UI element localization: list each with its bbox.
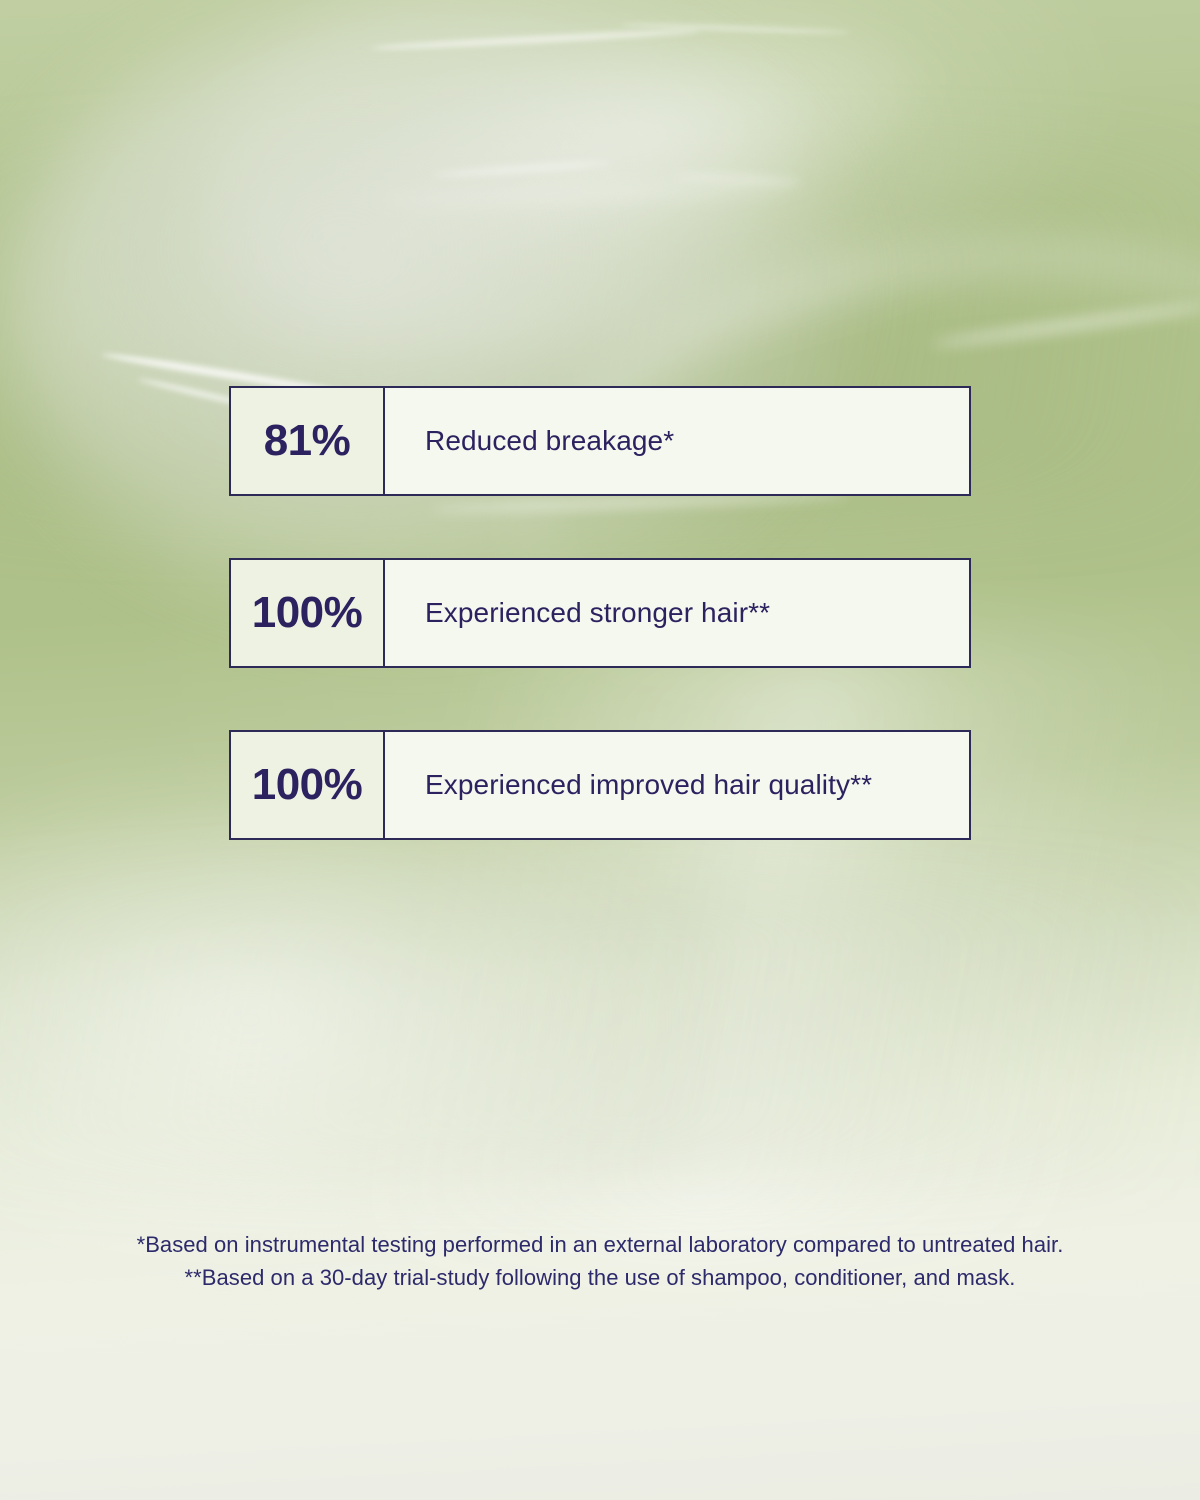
- promo-stats-panel: 81% Reduced breakage* 100% Experienced s…: [0, 0, 1200, 1500]
- stat-value: 100%: [252, 763, 363, 807]
- stat-label-cell: Reduced breakage*: [385, 388, 969, 494]
- stat-row: 81% Reduced breakage*: [229, 386, 971, 496]
- background-swirl-crest: [316, 0, 965, 297]
- stat-value-cell: 100%: [231, 560, 385, 666]
- foam-streak: [432, 160, 612, 179]
- stat-value: 100%: [252, 591, 363, 635]
- stat-row: 100% Experienced improved hair quality**: [229, 730, 971, 840]
- footnote-line: **Based on a 30-day trial-study followin…: [0, 1261, 1200, 1294]
- stats-list: 81% Reduced breakage* 100% Experienced s…: [229, 386, 971, 840]
- stat-row: 100% Experienced stronger hair**: [229, 558, 971, 668]
- footnotes: *Based on instrumental testing performed…: [0, 1228, 1200, 1294]
- stat-value: 81%: [264, 419, 351, 463]
- foam-streak: [931, 301, 1200, 350]
- stat-value-cell: 100%: [231, 732, 385, 838]
- background-diagonal-shadow: [0, 880, 1200, 1180]
- footnote-line: *Based on instrumental testing performed…: [0, 1228, 1200, 1261]
- foam-streak: [620, 22, 850, 35]
- foam-streak: [672, 173, 802, 186]
- stat-label: Reduced breakage*: [425, 425, 674, 457]
- stat-value-cell: 81%: [231, 388, 385, 494]
- foam-streak: [370, 27, 700, 51]
- background-swirl-upper: [175, 0, 1124, 393]
- stat-label: Experienced improved hair quality**: [425, 769, 872, 801]
- stat-label-cell: Experienced stronger hair**: [385, 560, 969, 666]
- foam-streak: [380, 179, 800, 208]
- stat-label: Experienced stronger hair**: [425, 597, 770, 629]
- stat-label-cell: Experienced improved hair quality**: [385, 732, 969, 838]
